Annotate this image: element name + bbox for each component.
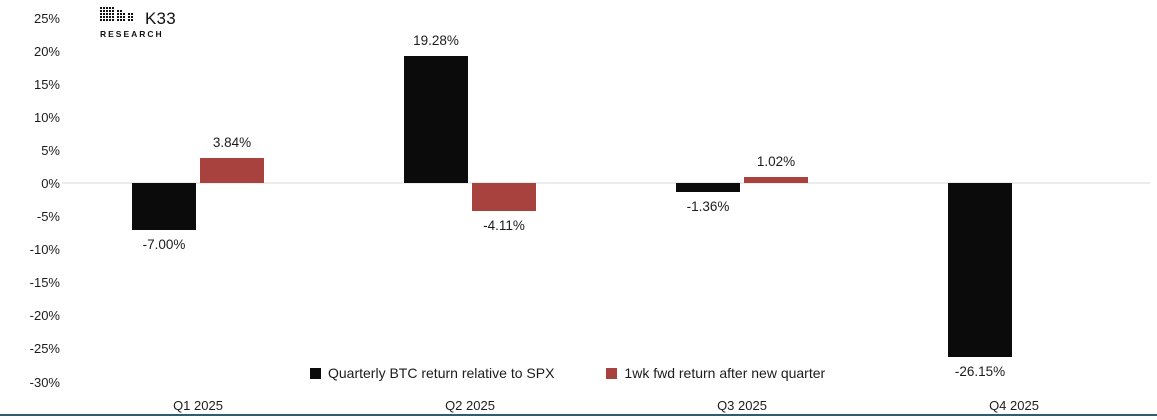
bar-value-label: 1.02%	[714, 155, 838, 169]
x-axis-tick-label: Q3 2025	[672, 399, 812, 412]
bar-black-q4-2025	[948, 183, 1012, 356]
y-axis-tick-label: 15%	[4, 78, 60, 91]
bar-value-label: -26.15%	[918, 365, 1042, 379]
bar-red-q2-2025	[472, 183, 536, 210]
x-axis-tick-label: Q4 2025	[944, 399, 1084, 412]
legend-item-quarterly-btc-return[interactable]: Quarterly BTC return relative to SPX	[310, 366, 554, 380]
bar-black-q2-2025	[404, 56, 468, 184]
bar-value-label: 19.28%	[374, 34, 498, 48]
y-axis-tick-label: -10%	[4, 243, 60, 256]
y-axis: 25%20%15%10%5%0%-5%-10%-15%-20%-25%-30%	[0, 0, 60, 420]
y-axis-tick-label: 10%	[4, 111, 60, 124]
bar-black-q1-2025	[132, 183, 196, 229]
y-axis-tick-label: -20%	[4, 309, 60, 322]
y-axis-tick-label: -15%	[4, 276, 60, 289]
legend-label: Quarterly BTC return relative to SPX	[328, 366, 554, 380]
legend-label: 1wk fwd return after new quarter	[624, 366, 825, 380]
bar-value-label: 3.84%	[170, 136, 294, 150]
k33-dot-matrix-icon	[100, 7, 142, 27]
bottom-rule	[0, 414, 1157, 416]
x-axis-tick-label: Q2 2025	[400, 399, 540, 412]
k33-research-logo: K33 RESEARCH	[100, 10, 190, 40]
logo-subtitle: RESEARCH	[100, 29, 190, 39]
y-axis-tick-label: 5%	[4, 144, 60, 157]
legend-swatch-icon	[310, 368, 321, 379]
y-axis-tick-label: -25%	[4, 342, 60, 355]
y-axis-tick-label: -30%	[4, 376, 60, 389]
y-axis-tick-label: -5%	[4, 210, 60, 223]
bar-black-q3-2025	[676, 183, 740, 192]
bar-value-label: -7.00%	[102, 238, 226, 252]
y-axis-tick-label: 0%	[4, 177, 60, 190]
y-axis-tick-label: 20%	[4, 45, 60, 58]
chart-legend: Quarterly BTC return relative to SPX1wk …	[310, 366, 825, 380]
legend-item-1wk-fwd-return[interactable]: 1wk fwd return after new quarter	[606, 366, 825, 380]
bar-value-label: -1.36%	[646, 200, 770, 214]
bar-red-q3-2025	[744, 177, 808, 184]
x-axis-tick-label: Q1 2025	[128, 399, 268, 412]
bar-chart: K33 RESEARCH 25%20%15%10%5%0%-5%-10%-15%…	[0, 0, 1157, 420]
logo-wordmark: K33	[145, 10, 176, 27]
bar-value-label: -4.11%	[442, 219, 566, 233]
legend-swatch-icon	[606, 368, 617, 379]
bar-red-q1-2025	[200, 158, 264, 183]
y-axis-tick-label: 25%	[4, 12, 60, 25]
